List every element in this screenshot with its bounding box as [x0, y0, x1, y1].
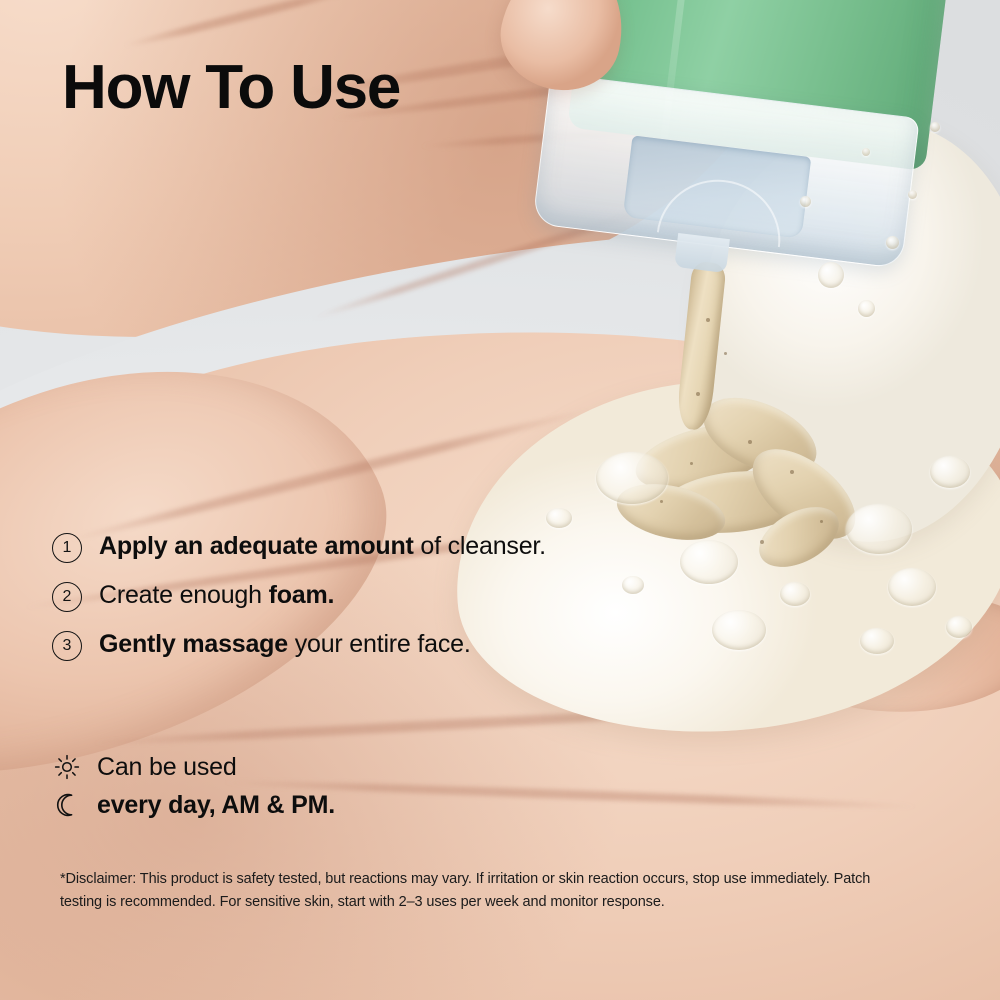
- step-text-bold: Apply an adequate amount: [99, 532, 414, 560]
- scrub-speck: [706, 318, 710, 322]
- scrub-speck: [790, 470, 794, 474]
- usage-text-day: Can be used: [97, 752, 237, 782]
- scrub-speck: [696, 392, 700, 396]
- page-title: How To Use: [62, 57, 400, 119]
- foam-bubble: [908, 190, 917, 199]
- foam-bubble: [680, 540, 738, 584]
- scrub-speck: [820, 520, 823, 523]
- foam-bubble: [930, 122, 940, 132]
- step-text-rest: of cleanser.: [414, 532, 546, 560]
- step-text-bold: foam.: [269, 581, 335, 609]
- usage-row-day: Can be used: [52, 752, 672, 782]
- step-text: Create enough foam.: [99, 579, 334, 611]
- moon-icon: [52, 790, 82, 820]
- step-item: 3 Gently massage your entire face.: [52, 628, 652, 661]
- foam-bubble: [546, 508, 572, 528]
- bottle-nozzle: [674, 233, 730, 273]
- usage-text-night: every day, AM & PM.: [97, 790, 335, 820]
- step-item: 1 Apply an adequate amount of cleanser.: [52, 530, 652, 563]
- sun-icon: [52, 752, 82, 782]
- step-text: Gently massage your entire face.: [99, 628, 471, 660]
- step-text: Apply an adequate amount of cleanser.: [99, 530, 546, 562]
- scrub-speck: [690, 462, 693, 465]
- scrub-speck: [660, 500, 663, 503]
- foam-bubble: [858, 300, 875, 317]
- foam-bubble: [930, 456, 970, 488]
- foam-bubble: [846, 504, 912, 554]
- foam-bubble: [712, 610, 766, 650]
- scrub-speck: [748, 440, 752, 444]
- step-number-badge: 2: [52, 582, 82, 612]
- scrub-speck: [760, 540, 764, 544]
- foam-bubble: [888, 568, 936, 606]
- usage-frequency-block: Can be used every day, AM & PM.: [52, 752, 672, 828]
- foam-bubble: [780, 582, 810, 606]
- foam-bubble: [862, 148, 870, 156]
- step-number-badge: 1: [52, 533, 82, 563]
- step-item: 2 Create enough foam.: [52, 579, 652, 612]
- how-to-use-infographic: How To Use 1 Apply an adequate amount of…: [0, 0, 1000, 1000]
- disclaimer-text: *Disclaimer: This product is safety test…: [60, 868, 915, 915]
- foam-bubble: [886, 236, 899, 249]
- step-text-lead: Create enough: [99, 581, 269, 609]
- product-photo: [0, 0, 1000, 1000]
- scrub-speck: [724, 352, 727, 355]
- steps-list: 1 Apply an adequate amount of cleanser. …: [52, 530, 652, 677]
- foam-bubble: [800, 196, 811, 207]
- foam-bubble: [818, 262, 844, 288]
- usage-row-night: every day, AM & PM.: [52, 790, 672, 820]
- foam-bubble: [860, 628, 894, 654]
- step-number-badge: 3: [52, 631, 82, 661]
- foam-bubble: [596, 452, 668, 504]
- foam-bubble: [946, 616, 972, 638]
- step-text-rest: your entire face.: [288, 630, 471, 658]
- step-text-bold: Gently massage: [99, 630, 288, 658]
